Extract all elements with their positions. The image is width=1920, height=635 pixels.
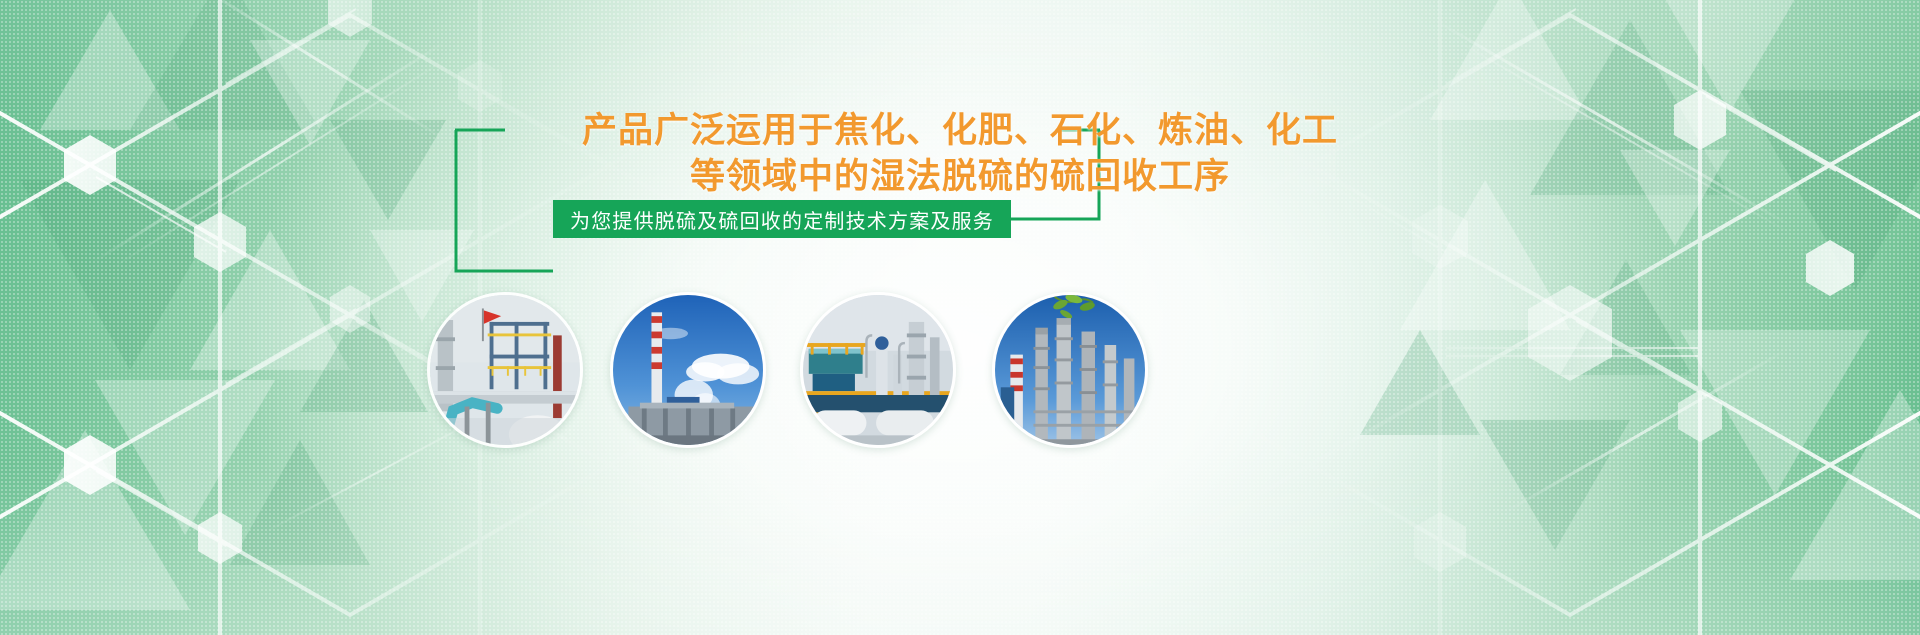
headline-line-2: 等领域中的湿法脱硫的硫回收工序: [0, 154, 1920, 200]
photo-refinery-distillation-columns[interactable]: [992, 292, 1148, 448]
power-plant-chimney-stack-image: [613, 295, 763, 445]
refinery-distillation-columns-image: [995, 295, 1145, 445]
photo-power-plant-chimney-stack[interactable]: [610, 292, 766, 448]
sulfur-recovery-plant-piping-image: [430, 295, 580, 445]
subtitle-banner: 为您提供脱硫及硫回收的定制技术方案及服务: [553, 200, 1011, 238]
chemical-process-units-image: [803, 295, 953, 445]
photo-chemical-process-units[interactable]: [800, 292, 956, 448]
photo-sulfur-recovery-plant-piping[interactable]: [427, 292, 583, 448]
photo-gallery: [0, 292, 1920, 454]
promo-banner: 产品广泛运用于焦化、化肥、石化、炼油、化工 等领域中的湿法脱硫的硫回收工序 为您…: [0, 0, 1920, 635]
headline-line-1: 产品广泛运用于焦化、化肥、石化、炼油、化工: [0, 108, 1920, 154]
subtitle-text: 为您提供脱硫及硫回收的定制技术方案及服务: [570, 205, 994, 234]
page-title: 产品广泛运用于焦化、化肥、石化、炼油、化工 等领域中的湿法脱硫的硫回收工序: [0, 108, 1920, 199]
